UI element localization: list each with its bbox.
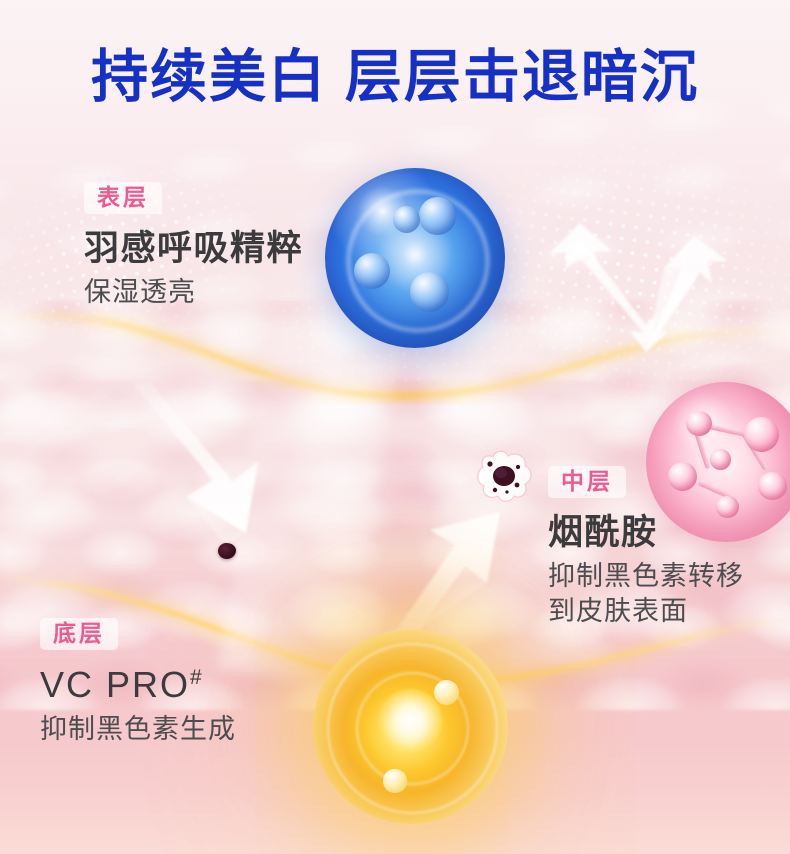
layer-heading-bottom-text: VC PRO bbox=[40, 664, 190, 705]
layer-block-middle: 中层 烟酰胺 抑制黑色素转移 到皮肤表面 bbox=[548, 466, 744, 629]
layer-heading-middle: 烟酰胺 bbox=[548, 512, 744, 553]
layer-subtext-bottom: 抑制黑色素生成 bbox=[40, 712, 236, 747]
bubble-a bbox=[419, 197, 457, 235]
layer-badge-middle: 中层 bbox=[548, 466, 626, 498]
layer-subtext-top: 保湿透亮 bbox=[84, 275, 303, 310]
layer-subline-top-1: 保湿透亮 bbox=[84, 275, 303, 310]
molecule-node-5 bbox=[758, 472, 787, 501]
w-shaped-up-arrow bbox=[549, 223, 728, 352]
layer-badge-bottom: 底层 bbox=[40, 618, 118, 650]
layer-subline-middle-2: 到皮肤表面 bbox=[548, 594, 744, 629]
melanocyte-cell bbox=[473, 447, 535, 505]
gold-bubble-a bbox=[434, 680, 459, 705]
layer-heading-bottom-sup: # bbox=[190, 666, 202, 689]
bubble-d bbox=[410, 272, 450, 312]
gold-vitamin-sphere bbox=[313, 629, 508, 824]
arrow-down-left bbox=[108, 382, 258, 546]
promo-poster: 持续美白 层层击退暗沉 表层 羽感呼吸精粹 保湿透亮 中层 烟酰胺 抑制黑色素转… bbox=[0, 0, 790, 854]
melanin-spot bbox=[218, 543, 236, 559]
gold-bubble-b bbox=[383, 769, 406, 792]
page-title: 持续美白 层层击退暗沉 bbox=[0, 47, 790, 109]
bubble-b bbox=[393, 206, 420, 233]
gold-core-glow bbox=[379, 689, 441, 751]
molecule-node-2 bbox=[744, 417, 779, 452]
layer-subline-middle-1: 抑制黑色素转移 bbox=[548, 559, 744, 594]
light-streak-left bbox=[0, 310, 228, 671]
layer-block-bottom: 底层 VC PRO# 抑制黑色素生成 bbox=[40, 618, 236, 748]
layer-badge-top: 表层 bbox=[84, 182, 162, 214]
layer-heading-top: 羽感呼吸精粹 bbox=[84, 228, 303, 269]
bubble-c bbox=[354, 253, 390, 289]
blue-essence-sphere bbox=[325, 168, 505, 348]
layer-heading-bottom: VC PRO# bbox=[40, 664, 236, 706]
layer-block-top: 表层 羽感呼吸精粹 保湿透亮 bbox=[84, 182, 303, 310]
layer-subtext-middle: 抑制黑色素转移 到皮肤表面 bbox=[548, 559, 744, 629]
layer-subline-bottom-1: 抑制黑色素生成 bbox=[40, 712, 236, 747]
molecule-node-1 bbox=[686, 411, 712, 437]
